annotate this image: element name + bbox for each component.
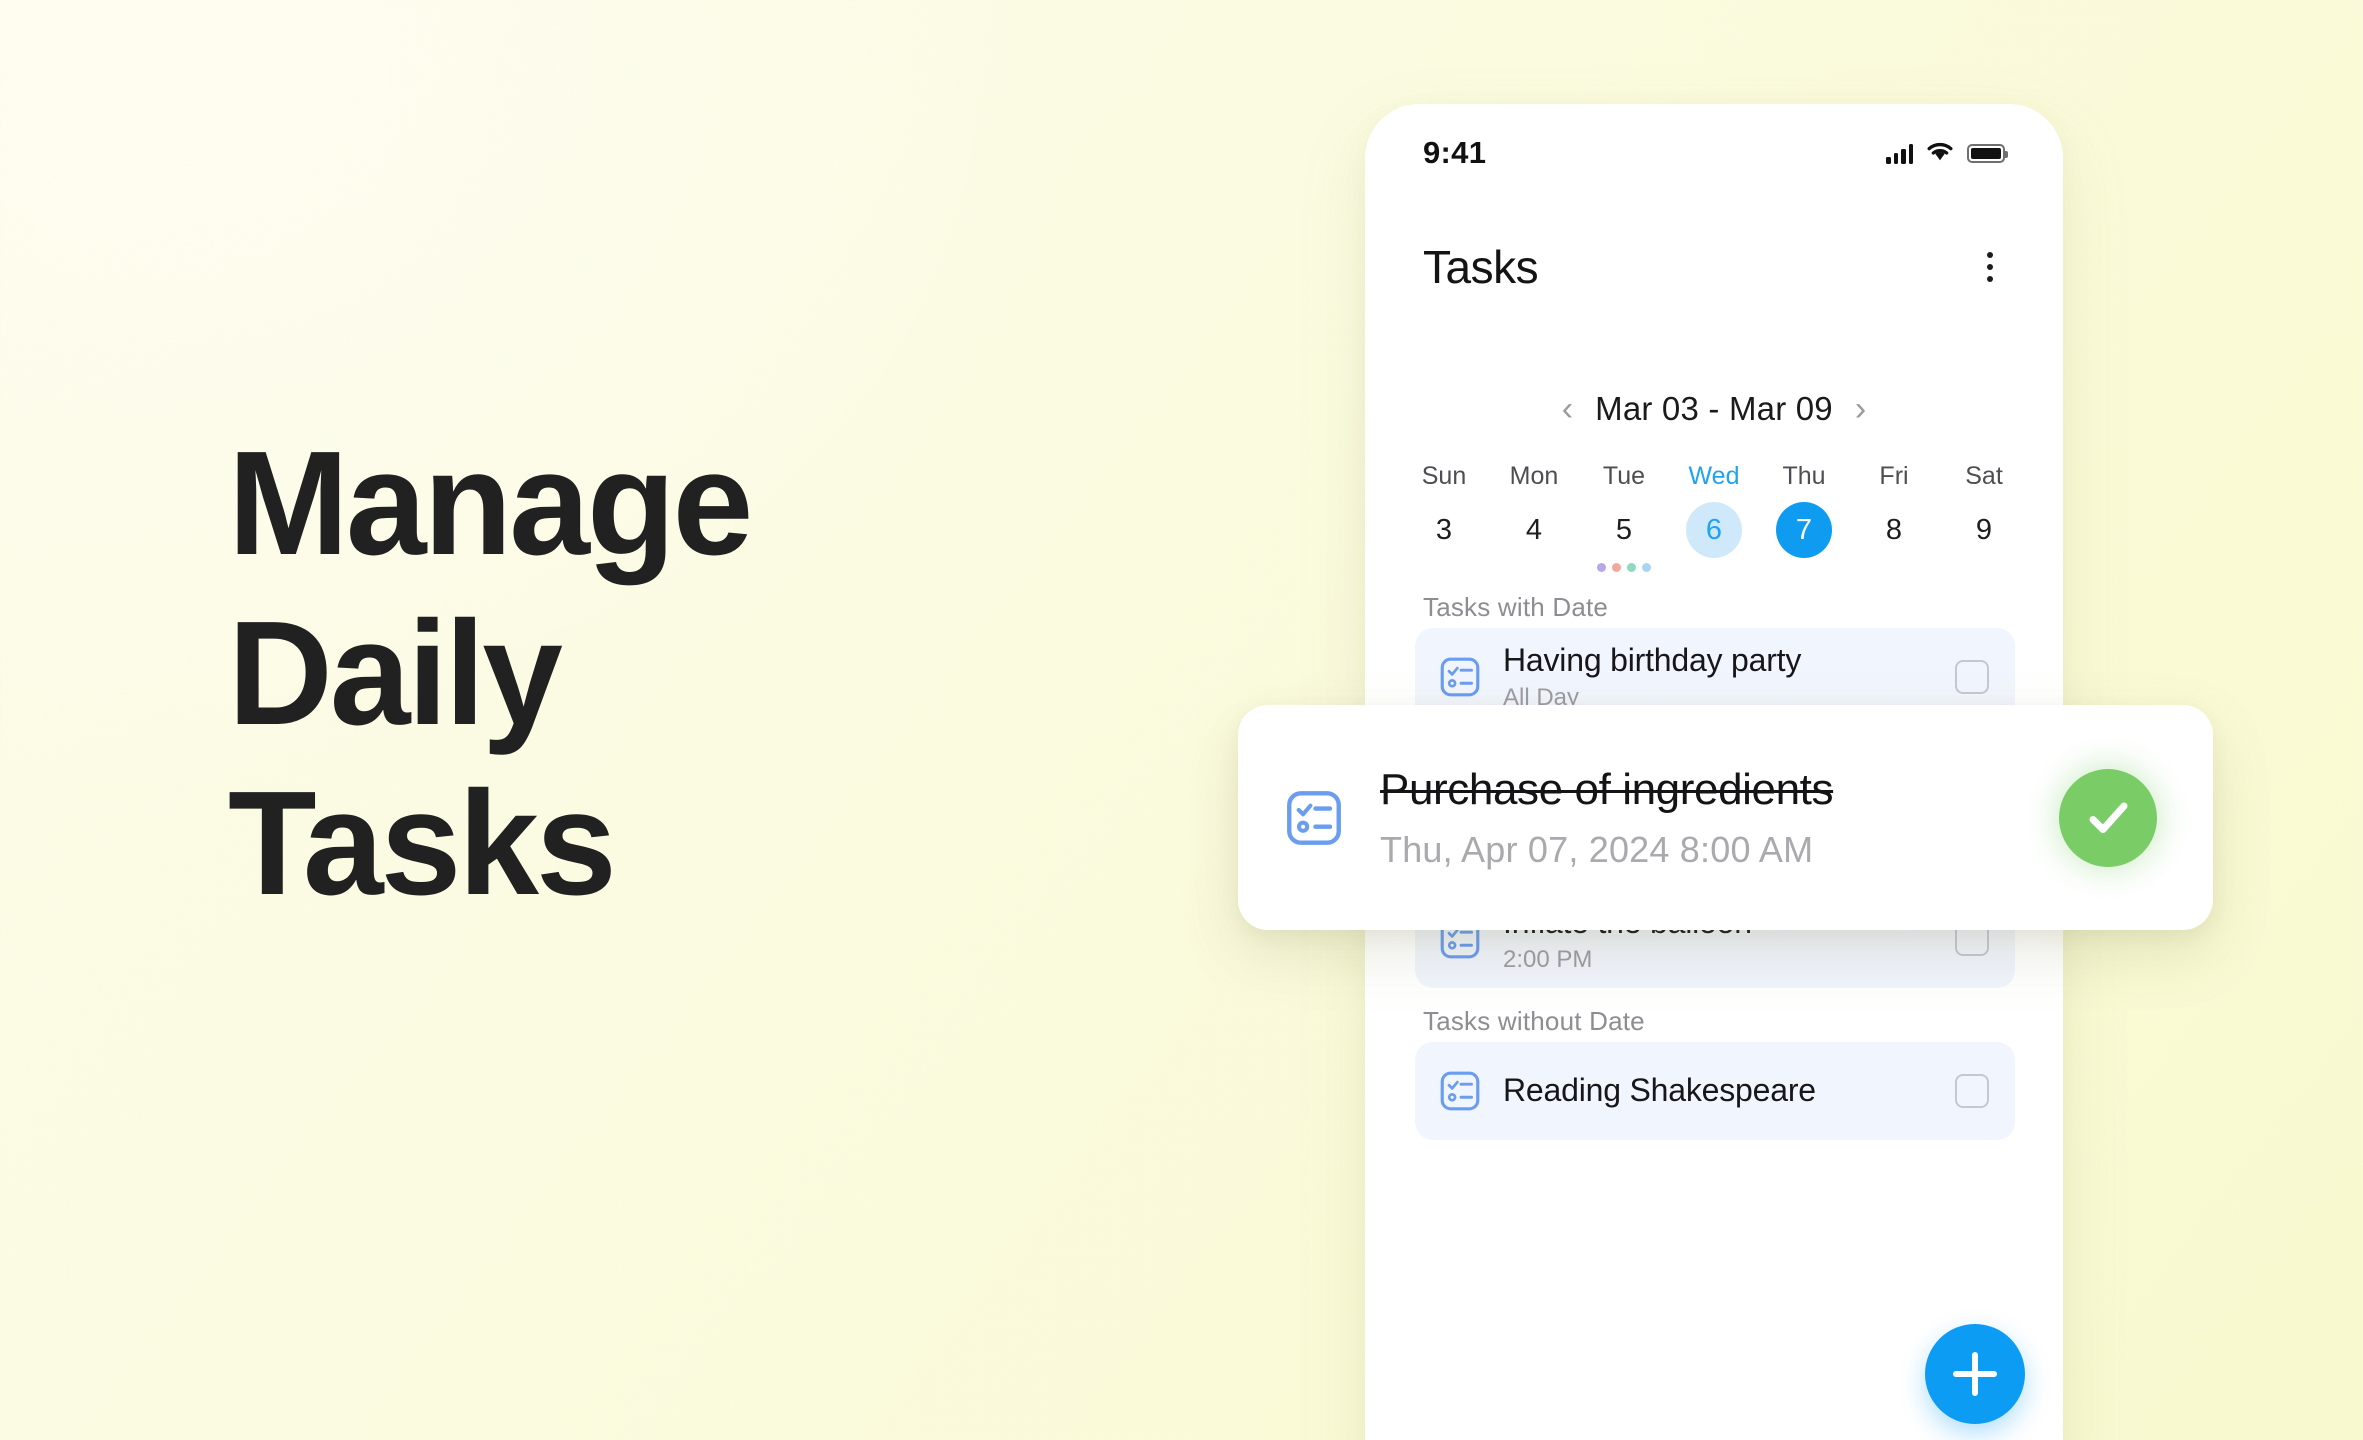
day-name: Thu: [1782, 462, 1825, 491]
activity-dot: [1642, 563, 1651, 572]
day-cell-tue[interactable]: Tue 5: [1579, 462, 1669, 573]
card-text: Purchase of ingredients Thu, Apr 07, 202…: [1380, 765, 2059, 871]
app-header: Tasks: [1365, 222, 2063, 312]
wifi-icon: [1926, 140, 1954, 166]
task-title: Having birthday party: [1503, 642, 1955, 680]
day-name: Wed: [1689, 462, 1740, 491]
week-navigator: ‹ Mar 03 - Mar 09 ›: [1365, 390, 2063, 428]
day-dots: [1597, 563, 1651, 573]
day-name: Mon: [1510, 462, 1559, 491]
week-day-strip: Sun 3 Mon 4 Tue 5 Wed 6 Thu 7 Fri 8: [1399, 462, 2029, 573]
cellular-signal-icon: [1886, 143, 1913, 164]
section-label-with-date: Tasks with Date: [1423, 592, 1608, 623]
day-number: 3: [1416, 502, 1472, 558]
day-number: 8: [1866, 502, 1922, 558]
task-text: Reading Shakespeare: [1503, 1072, 1955, 1110]
chevron-right-icon[interactable]: ›: [1855, 392, 1866, 426]
task-checkbox[interactable]: [1955, 1074, 1989, 1108]
hero-line-3: Tasks: [228, 770, 1110, 918]
status-time: 9:41: [1423, 135, 1486, 171]
day-number: 9: [1956, 502, 2012, 558]
day-name: Sun: [1422, 462, 1466, 491]
completed-task-card[interactable]: Purchase of ingredients Thu, Apr 07, 202…: [1238, 705, 2213, 930]
task-checkbox[interactable]: [1955, 660, 1989, 694]
task-text: Having birthday party All Day: [1503, 642, 1955, 713]
hero-line-1: Manage: [228, 430, 1110, 578]
checklist-icon: [1437, 654, 1483, 700]
checklist-icon: [1437, 1068, 1483, 1114]
day-number: 4: [1506, 502, 1562, 558]
activity-dot: [1597, 563, 1606, 572]
day-number: 7: [1776, 502, 1832, 558]
day-cell-sun[interactable]: Sun 3: [1399, 462, 1489, 573]
task-meta: 2:00 PM: [1503, 946, 1955, 974]
day-cell-wed[interactable]: Wed 6: [1669, 462, 1759, 573]
page-title: Tasks: [1423, 240, 1538, 294]
day-name: Fri: [1879, 462, 1908, 491]
day-name: Sat: [1965, 462, 2003, 491]
card-meta: Thu, Apr 07, 2024 8:00 AM: [1380, 829, 2059, 871]
activity-dot: [1627, 563, 1636, 572]
status-bar: 9:41: [1365, 104, 2063, 202]
activity-dot: [1612, 563, 1621, 572]
week-range-label: Mar 03 - Mar 09: [1595, 390, 1833, 428]
hero-line-2: Daily: [228, 600, 1110, 748]
status-icons: [1886, 140, 2005, 166]
day-cell-fri[interactable]: Fri 8: [1849, 462, 1939, 573]
day-cell-sat[interactable]: Sat 9: [1939, 462, 2029, 573]
day-name: Tue: [1603, 462, 1645, 491]
overflow-menu-icon[interactable]: [1975, 242, 2005, 292]
add-task-fab[interactable]: [1925, 1324, 2025, 1424]
chevron-left-icon[interactable]: ‹: [1562, 392, 1573, 426]
checklist-icon: [1282, 786, 1346, 850]
day-cell-thu[interactable]: Thu 7: [1759, 462, 1849, 573]
check-circle-icon[interactable]: [2059, 769, 2157, 867]
hero-headline: Manage Daily Tasks: [228, 430, 1128, 918]
card-title: Purchase of ingredients: [1380, 765, 2059, 815]
day-cell-mon[interactable]: Mon 4: [1489, 462, 1579, 573]
task-row[interactable]: Reading Shakespeare: [1415, 1042, 2015, 1140]
day-number: 6: [1686, 502, 1742, 558]
plus-icon: [1953, 1352, 1997, 1396]
battery-full-icon: [1967, 144, 2005, 163]
day-number: 5: [1596, 502, 1652, 558]
section-label-without-date: Tasks without Date: [1423, 1006, 1645, 1037]
task-title: Reading Shakespeare: [1503, 1072, 1955, 1110]
